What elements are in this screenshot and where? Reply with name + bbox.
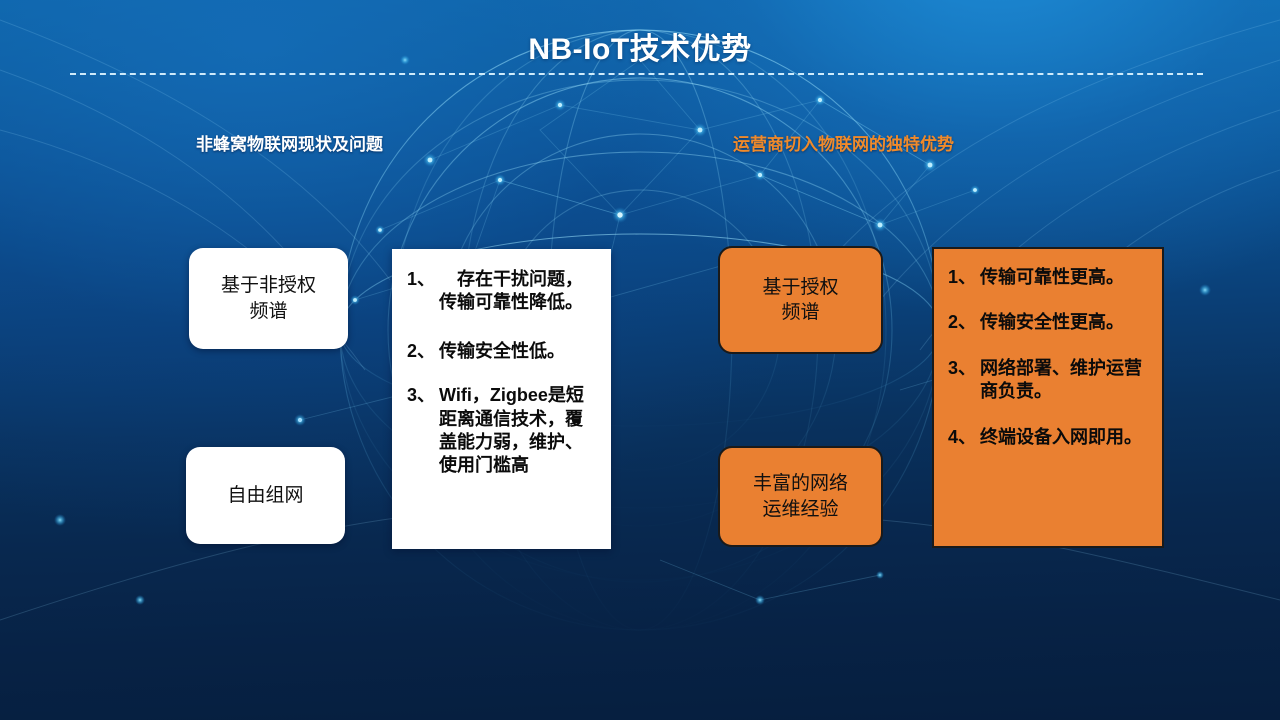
pill-free-networking-label: 自由组网 [227,483,303,508]
left-column-heading: 非蜂窝物联网现状及问题 [196,130,383,155]
pill-free-networking[interactable]: 自由组网 [186,447,345,544]
right-bullet-2: 2、 传输安全性更高。 [948,311,1152,334]
pill-licensed-spectrum[interactable]: 基于授权 频谱 [718,246,883,354]
right-bullet-4-text: 终端设备入网即用。 [980,426,1152,449]
right-bullet-3: 3、 网络部署、维护运营商负责。 [948,357,1152,404]
slide-title: NB-IoT技术优势 [0,24,1280,68]
right-bullet-2-text: 传输安全性更高。 [980,311,1152,334]
left-bullet-2-text: 传输安全性低。 [439,340,598,363]
pill-network-ops-experience[interactable]: 丰富的网络 运维经验 [718,446,883,547]
left-bullet-1-text: 存在干扰问题，传输可靠性降低。 [439,268,598,315]
left-bullet-3-text: Wifi，Zigbee是短距离通信技术，覆盖能力弱，维护、使用门槛高 [439,384,598,478]
right-bullet-2-number: 2、 [948,311,980,334]
left-bullet-1-number: 1、 [407,268,439,315]
left-bullet-3: 3、 Wifi，Zigbee是短距离通信技术，覆盖能力弱，维护、使用门槛高 [407,384,598,478]
pill-unlicensed-spectrum[interactable]: 基于非授权 频谱 [189,248,348,349]
right-bullet-1-number: 1、 [948,266,980,289]
right-bullet-4-number: 4、 [948,426,980,449]
right-bullet-3-number: 3、 [948,357,980,404]
left-issues-panel: 1、 存在干扰问题，传输可靠性降低。 2、 传输安全性低。 3、 Wifi，Zi… [392,249,611,549]
pill-unlicensed-spectrum-label: 基于非授权 频谱 [221,273,316,323]
left-bullet-2: 2、 传输安全性低。 [407,340,598,363]
right-bullet-4: 4、 终端设备入网即用。 [948,426,1152,449]
left-bullet-3-number: 3、 [407,384,439,478]
right-bullet-1: 1、 传输可靠性更高。 [948,266,1152,289]
right-bullet-3-text: 网络部署、维护运营商负责。 [980,357,1152,404]
right-bullet-1-text: 传输可靠性更高。 [980,266,1152,289]
slide-canvas: NB-IoT技术优势 非蜂窝物联网现状及问题 基于非授权 频谱 自由组网 1、 … [0,0,1280,720]
pill-network-ops-experience-label: 丰富的网络 运维经验 [753,471,848,521]
right-advantages-panel: 1、 传输可靠性更高。 2、 传输安全性更高。 3、 网络部署、维护运营商负责。… [932,247,1164,548]
left-bullet-2-number: 2、 [407,340,439,363]
pill-licensed-spectrum-label: 基于授权 频谱 [762,275,838,325]
header-divider [70,73,1203,75]
left-bullet-1: 1、 存在干扰问题，传输可靠性降低。 [407,268,598,315]
right-column-heading: 运营商切入物联网的独特优势 [733,130,954,155]
